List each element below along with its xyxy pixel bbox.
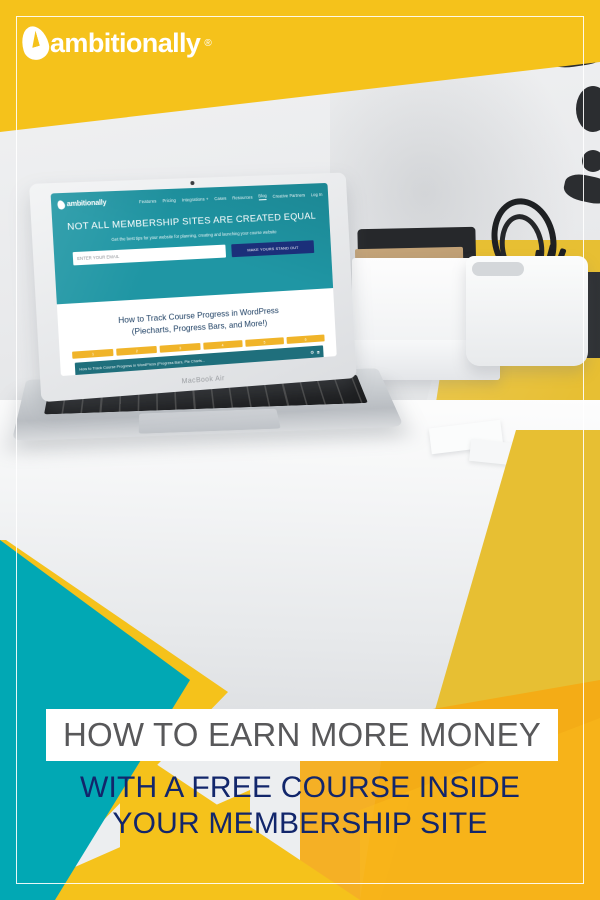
headline-line-2b: YOUR MEMBERSHIP SITE <box>0 806 600 842</box>
hero-signup-form: ENTER YOUR EMAIL MAKE YOURS STAND OUT <box>73 240 315 265</box>
expand-icon[interactable]: ⧈ <box>317 350 320 355</box>
nav-link-resources[interactable]: Resources <box>232 194 253 200</box>
laptop: ambitionally Features Pricing Integratio… <box>28 178 380 478</box>
nav-link-cases[interactable]: Cases <box>214 195 226 200</box>
email-input[interactable]: ENTER YOUR EMAIL <box>73 245 226 266</box>
chip-3[interactable]: 3 <box>160 343 200 353</box>
droplet-flame-icon <box>56 199 66 210</box>
caddy-slot <box>472 262 524 276</box>
nav-link-integrations[interactable]: Integrations + <box>182 196 209 202</box>
nav-link-creative-partners[interactable]: Creative Partners <box>272 192 305 198</box>
nav-link-features[interactable]: Features <box>139 198 157 204</box>
trackpad <box>139 409 281 434</box>
nav-link-blog[interactable]: Blog <box>258 193 267 200</box>
laptop-screen: ambitionally Features Pricing Integratio… <box>51 183 337 376</box>
laptop-lid: ambitionally Features Pricing Integratio… <box>29 173 357 403</box>
headline-line-2a: WITH A FREE COURSE INSIDE <box>0 770 600 806</box>
chip-1[interactable]: 1 <box>72 349 114 359</box>
droplet-flame-icon <box>18 23 52 63</box>
chip-5[interactable]: 5 <box>245 337 284 347</box>
chip-6[interactable]: 6 <box>286 334 324 343</box>
registered-mark: ® <box>204 38 211 49</box>
hero-cta-button[interactable]: MAKE YOURS STAND OUT <box>231 240 314 257</box>
screen-bezel: ambitionally Features Pricing Integratio… <box>51 183 337 376</box>
brand-name: ambitionally <box>50 28 200 59</box>
webcam-icon <box>190 181 194 185</box>
nav-link-pricing[interactable]: Pricing <box>162 197 176 203</box>
pinterest-graphic: ambitionally Features Pricing Integratio… <box>0 0 600 900</box>
brand-logo: ambitionally ® <box>22 26 212 60</box>
dark-object-c <box>582 150 600 172</box>
headline-line-1: HOW TO EARN MORE MONEY <box>46 718 558 751</box>
headline-line-2: WITH A FREE COURSE INSIDE YOUR MEMBERSHI… <box>0 770 600 842</box>
chip-4[interactable]: 4 <box>203 340 243 350</box>
headline-block: HOW TO EARN MORE MONEY WITH A FREE COURS… <box>0 709 600 842</box>
headline-white-band: HOW TO EARN MORE MONEY <box>46 709 558 761</box>
site-logo-text: ambitionally <box>67 199 107 208</box>
site-article: How to Track Course Progress in WordPres… <box>57 288 337 376</box>
nav-link-login[interactable]: Log In <box>311 191 323 196</box>
site-logo[interactable]: ambitionally <box>57 198 106 209</box>
site-hero: ambitionally Features Pricing Integratio… <box>51 183 334 304</box>
gear-icon[interactable]: ⚙ <box>310 351 314 356</box>
site-nav-links: Features Pricing Integrations + Cases Re… <box>139 190 323 204</box>
chip-2[interactable]: 2 <box>116 346 157 356</box>
